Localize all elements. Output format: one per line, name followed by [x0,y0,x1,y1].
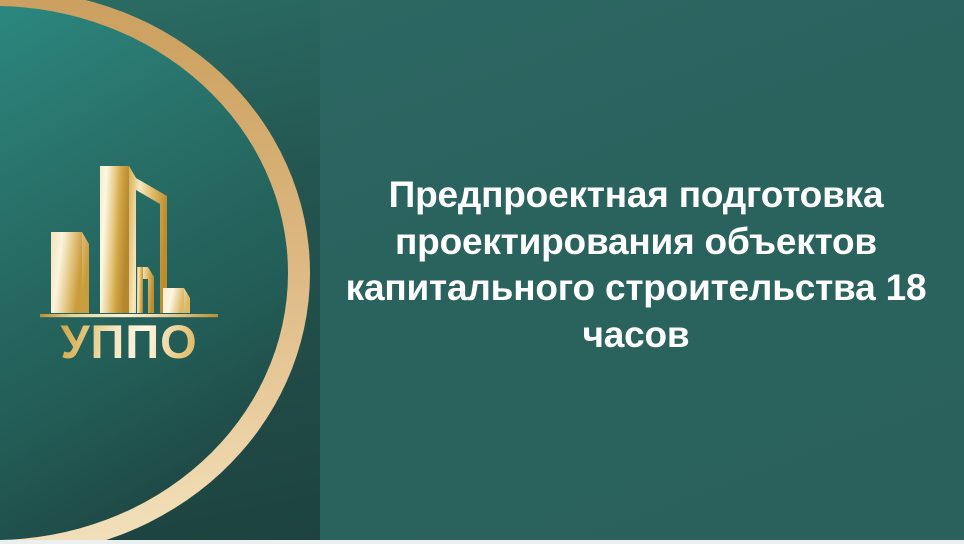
bottom-edge-strip [0,540,964,544]
tower-right-small [163,288,190,313]
tower-inner-column [137,267,154,313]
slide-title: Предпроектная подготовка проектирования … [318,172,954,358]
tower-left-block [51,232,89,313]
logo-wordmark: УППО [36,318,222,365]
title-slide: УППО Предпроектная подготовка проектиров… [0,0,964,544]
